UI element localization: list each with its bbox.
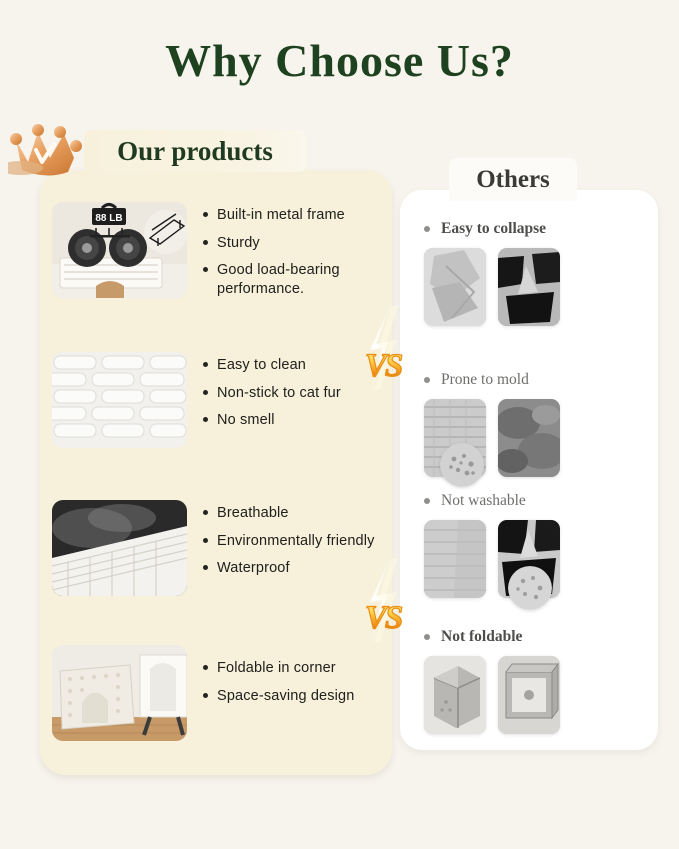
bullet-dot-icon — [203, 665, 208, 670]
product-row-3: Breathable Environmentally friendly Wate… — [52, 500, 375, 596]
bullet-text: Built-in metal frame — [217, 206, 345, 225]
bullet-dot-icon — [203, 390, 208, 395]
bullet-item: Non-stick to cat fur — [203, 384, 341, 403]
bullet-dot-icon — [424, 226, 430, 232]
bullet-text: Sturdy — [217, 234, 260, 253]
bullet-dot-icon — [203, 538, 208, 543]
bullet-text: No smell — [217, 411, 275, 430]
others-row-3-thumbs — [424, 520, 644, 598]
others-label-text: Prone to mold — [441, 371, 529, 389]
others-row-1-thumbs — [424, 248, 644, 326]
others-row-1-label: Easy to collapse — [424, 220, 644, 238]
bullet-item: No smell — [203, 411, 341, 430]
bullet-dot-icon — [203, 693, 208, 698]
our-products-header-label: Our products — [84, 130, 306, 172]
bullet-text: Waterproof — [217, 559, 290, 578]
product-row-4: Foldable in corner Space-saving design — [52, 645, 354, 741]
stained-fabric-photo — [424, 520, 486, 598]
bullet-item: Good load-bearing performance. — [203, 261, 397, 298]
bullet-dot-icon — [203, 267, 208, 272]
bullet-item: Easy to clean — [203, 356, 341, 375]
others-label-text: Easy to collapse — [441, 220, 546, 238]
bullet-dot-icon — [424, 634, 430, 640]
bullet-dot-icon — [203, 362, 208, 367]
others-row-2-label: Prone to mold — [424, 371, 644, 389]
bullet-text: Environmentally friendly — [217, 532, 375, 551]
bullet-text: Breathable — [217, 504, 289, 523]
bullet-item: Sturdy — [203, 234, 397, 253]
others-header-label: Others — [476, 166, 550, 194]
others-label-text: Not foldable — [441, 628, 522, 646]
product-row-2-bullets: Easy to clean Non-stick to cat fur No sm… — [203, 352, 341, 448]
others-row-2-thumbs — [424, 399, 644, 477]
bullet-dot-icon — [203, 240, 208, 245]
basket-with-weights-photo: 88 LB — [52, 202, 187, 298]
others-row-3-label: Not washable — [424, 492, 644, 510]
bullet-text: Good load-bearing performance. — [217, 261, 397, 298]
bullet-item: Foldable in corner — [203, 659, 354, 678]
others-row-1: Easy to collapse — [424, 220, 644, 326]
collapsed-fabric-photo — [424, 248, 486, 326]
others-row-4-thumbs — [424, 656, 644, 734]
others-row-4: Not foldable — [424, 628, 644, 734]
others-row-2: Prone to mold — [424, 371, 644, 477]
product-row-1: 88 LB Built-in metal frame Sturdy Good l… — [52, 202, 397, 307]
bullet-dot-icon — [203, 417, 208, 422]
bullet-dot-icon — [424, 498, 430, 504]
bullet-item: Built-in metal frame — [203, 206, 397, 225]
bullet-dot-icon — [203, 212, 208, 217]
product-row-1-bullets: Built-in metal frame Sturdy Good load-be… — [203, 202, 397, 307]
rigid-box-photo — [424, 656, 486, 734]
others-label-text: Not washable — [441, 492, 526, 510]
others-row-4-label: Not foldable — [424, 628, 644, 646]
product-row-4-bullets: Foldable in corner Space-saving design — [203, 645, 354, 741]
our-products-header: Our products — [84, 130, 306, 172]
others-row-3: Not washable — [424, 492, 644, 598]
stain-closeup-circle-photo — [508, 566, 552, 610]
bullet-text: Space-saving design — [217, 687, 354, 706]
dark-mold-stain-photo — [498, 399, 560, 477]
infographic-page: Why Choose Us? Our products — [0, 0, 679, 849]
bullet-dot-icon — [203, 565, 208, 570]
vs-badge-top: VS — [352, 306, 414, 390]
dark-collapsed-fabric-photo — [498, 248, 560, 326]
bullet-dot-icon — [424, 377, 430, 383]
svg-text:88 LB: 88 LB — [95, 213, 122, 224]
rigid-metal-box-photo — [498, 656, 560, 734]
page-title: Why Choose Us? — [0, 34, 679, 87]
bullet-item: Space-saving design — [203, 687, 354, 706]
folded-basket-in-corner-photo — [52, 645, 187, 741]
bullet-dot-icon — [203, 510, 208, 515]
mold-closeup-circle-photo — [440, 443, 484, 487]
vs-badge-top-label: VS — [352, 348, 414, 385]
bullet-text: Non-stick to cat fur — [217, 384, 341, 403]
bullet-text: Foldable in corner — [217, 659, 336, 678]
product-row-3-bullets: Breathable Environmentally friendly Wate… — [203, 500, 375, 596]
steam-waterproof-demo-photo — [52, 500, 187, 596]
bullet-item: Environmentally friendly — [203, 532, 375, 551]
woven-texture-closeup-photo — [52, 352, 187, 448]
others-header: Others — [449, 158, 577, 201]
product-row-2: Easy to clean Non-stick to cat fur No sm… — [52, 352, 341, 448]
crown-icon — [8, 118, 86, 180]
vs-badge-bottom-label: VS — [352, 600, 414, 637]
vs-badge-bottom: VS — [352, 558, 414, 642]
bullet-item: Waterproof — [203, 559, 375, 578]
bullet-item: Breathable — [203, 504, 375, 523]
bullet-text: Easy to clean — [217, 356, 306, 375]
